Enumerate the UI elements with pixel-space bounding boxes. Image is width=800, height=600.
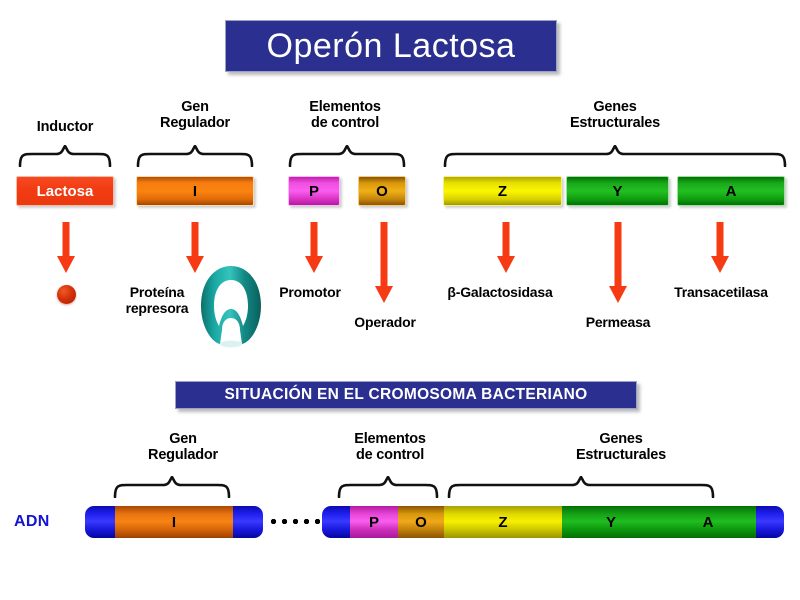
box-gene-z[interactable]: Z [443,176,562,206]
arrow-down-inductor [56,222,76,274]
label-proteina-represora: Proteína represora [105,284,209,316]
page-title: Operón Lactosa [225,20,557,72]
chr-gene-a-label: A [703,514,714,531]
chr-promoter-p[interactable]: P [350,506,398,538]
label-transacetilasa: Transacetilasa [648,284,794,300]
chr-gene-a[interactable]: A [660,506,756,538]
caption-elementos-de-control: Elementos de control [280,99,410,131]
arrow-down-gene-z [496,222,516,274]
arrow-down-promoter [304,222,324,274]
box-gene-z-label: Z [498,183,507,200]
chr-dna-mid-cap [233,506,263,538]
label-promotor: Promotor [258,284,362,300]
section-title-chromosome: SITUACIÓN EN EL CROMOSOMA BACTERIANO [175,381,637,409]
box-lactosa-label: Lactosa [37,183,94,200]
box-gene-y[interactable]: Y [566,176,669,206]
box-gene-a[interactable]: A [677,176,785,206]
caption-bottom-gen-regulador: Gen Regulador [108,431,258,463]
box-operator-o[interactable]: O [358,176,406,206]
adn-label: ADN [14,513,50,531]
chr-gene-i[interactable]: I [115,506,233,538]
chr-gene-z-label: Z [498,514,507,531]
brace-elementos-de-control [288,145,406,167]
box-promoter-p-label: P [309,183,319,200]
arrow-down-gene-a [710,222,730,274]
caption-gen-regulador: Gen Regulador [130,99,260,131]
box-gene-i[interactable]: I [136,176,254,206]
caption-bottom-genes-estructurales: Genes Estructurales [536,431,706,463]
section-title-chromosome-text: SITUACIÓN EN EL CROMOSOMA BACTERIANO [224,386,587,404]
brace-genes-estructurales [443,145,787,167]
chr-operator-o-label: O [415,514,427,531]
caption-bottom-elementos-de-control: Elementos de control [322,431,458,463]
chr-dna-left-cap [85,506,115,538]
brace-bottom-elementos-de-control [337,476,439,498]
arrow-down-gene-y [608,222,628,304]
repressor-protein-icon [198,264,264,348]
box-operator-o-label: O [376,183,388,200]
chr-gene-y-label: Y [606,514,616,531]
chr-gene-z[interactable]: Z [444,506,562,538]
caption-genes-estructurales: Genes Estructurales [530,99,700,131]
inducer-molecule-icon [57,285,76,304]
label-permeasa: Permeasa [562,314,674,330]
box-gene-i-label: I [193,183,197,200]
caption-inductor: Inductor [10,119,120,135]
label-beta-galactosidasa: β-Galactosidasa [415,284,585,300]
chr-dotted-connector [268,519,320,524]
box-gene-y-label: Y [612,183,622,200]
chr-gene-y[interactable]: Y [562,506,660,538]
brace-bottom-gen-regulador [113,476,231,498]
box-promoter-p[interactable]: P [288,176,340,206]
page-title-text: Operón Lactosa [267,27,516,66]
brace-bottom-genes-estructurales [447,476,715,498]
chr-dna-right-start-cap [322,506,350,538]
arrow-down-operator [374,222,394,304]
box-lactosa[interactable]: Lactosa [16,176,114,206]
chr-operator-o[interactable]: O [398,506,444,538]
brace-inductor [18,145,112,167]
chr-promoter-p-label: P [369,514,379,531]
brace-gen-regulador [136,145,254,167]
diagram-canvas: Operón Lactosa Inductor Gen Regulador El… [0,0,800,600]
label-operador: Operador [330,314,440,330]
box-gene-a-label: A [726,183,737,200]
chr-gene-i-label: I [172,514,176,531]
chr-dna-end-cap [756,506,784,538]
